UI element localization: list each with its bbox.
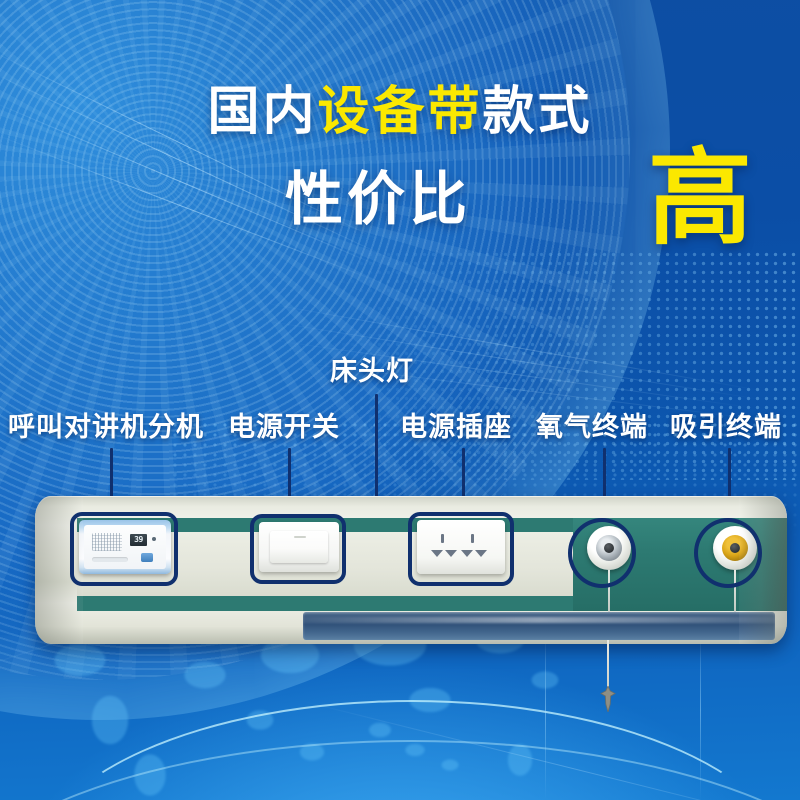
highlight-box-socket <box>408 512 514 586</box>
accent-word: 高 <box>648 146 752 250</box>
highlight-box-switch <box>250 514 346 584</box>
pull-cord-handle-icon[interactable] <box>597 686 619 712</box>
vertical-light-line-2 <box>700 620 701 800</box>
bed-lamp-pull-cord[interactable] <box>607 640 609 690</box>
callout-label-suction: 吸引终端 <box>670 414 782 441</box>
poster-canvas: 国内设备带款式 性价比 高 呼叫对讲机分机 电源开关 床头灯 电源插座 氧气终端… <box>0 0 800 800</box>
subtitle: 性价比 <box>118 170 638 228</box>
title-part-2: 款式 <box>483 82 593 142</box>
callout-label-socket: 电源插座 <box>400 414 512 441</box>
title-highlight: 设备带 <box>317 82 482 142</box>
panel-rail-highlight <box>303 617 775 623</box>
highlight-ellipse-suction <box>694 518 762 588</box>
callout-label-oxygen: 氧气终端 <box>536 414 648 441</box>
callout-label-bedlamp: 床头灯 <box>330 358 414 385</box>
title-part-1: 国内 <box>207 82 317 142</box>
highlight-ellipse-oxygen <box>568 518 636 588</box>
panel-stripe-bottom <box>77 596 573 611</box>
callout-label-intercom: 呼叫对讲机分机 <box>8 414 204 441</box>
page-title: 国内设备带款式 <box>0 86 800 138</box>
highlight-box-intercom <box>70 512 178 586</box>
callout-label-switch: 电源开关 <box>228 414 340 441</box>
vertical-light-line-1 <box>545 620 546 800</box>
